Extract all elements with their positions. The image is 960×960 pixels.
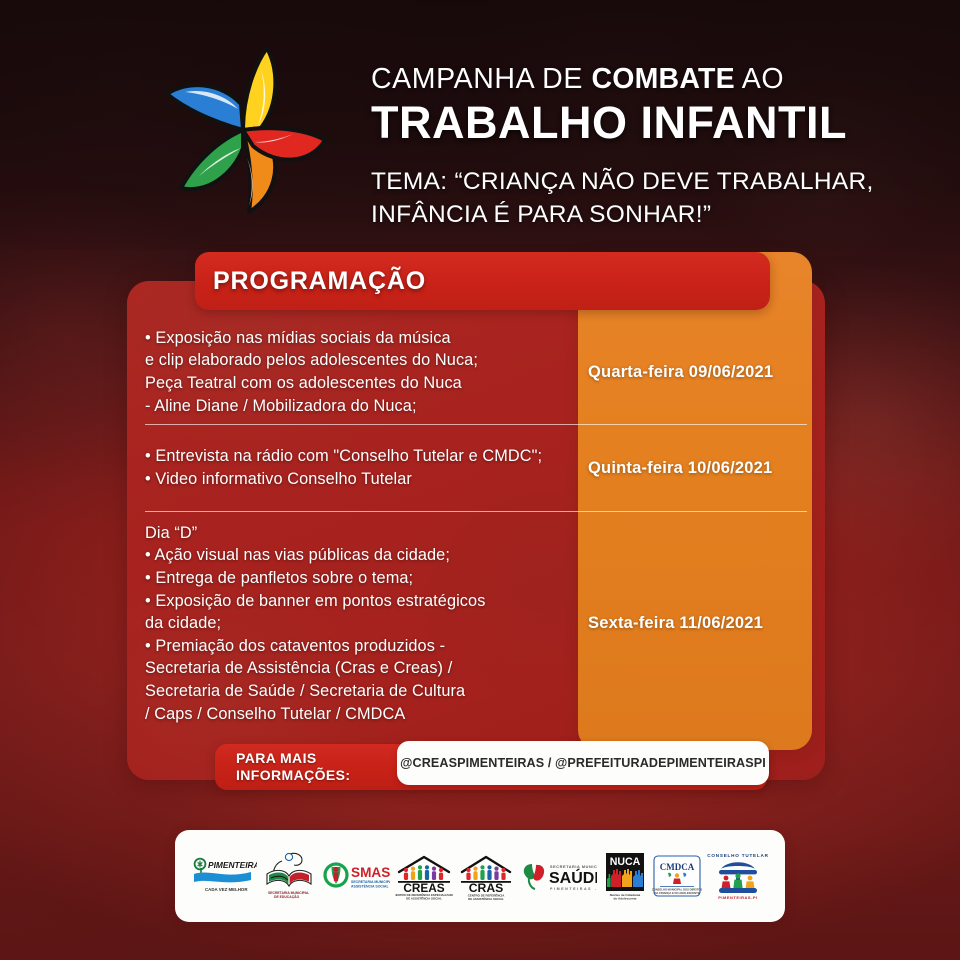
table-row: Dia “D” • Ação visual nas vias públicas …	[127, 512, 825, 735]
svg-text:do Adolescente: do Adolescente	[613, 897, 636, 901]
svg-text:PIMENTEIRAS: PIMENTEIRAS	[208, 860, 257, 870]
activity-line: Peça Teatral com os adolescentes do Nuca	[145, 372, 564, 395]
svg-text:CMDCA: CMDCA	[660, 862, 695, 872]
svg-text:SAÚDE: SAÚDE	[549, 868, 597, 887]
cmdca-logo: CMDCA CONSELHO MUNICIPAL DOS DIREITOS DA…	[652, 853, 702, 899]
conselho-tutelar-logo: CONSELHO TUTELAR PIMENTEIRAS-PI	[707, 850, 769, 902]
contact-label-line-1: PARA MAIS	[236, 750, 395, 768]
subtitle-line-2: INFÂNCIA É PARA SONHAR!”	[371, 199, 871, 232]
activity-line: Secretaria de Assistência (Cras e Creas)…	[145, 657, 564, 680]
row-activities: • Entrevista na rádio com "Conselho Tute…	[127, 445, 578, 490]
svg-text:DE ASSISTÊNCIA SOCIAL: DE ASSISTÊNCIA SOCIAL	[468, 896, 504, 900]
svg-text:CONSELHO TUTELAR: CONSELHO TUTELAR	[707, 853, 769, 858]
title-line-1-pre: CAMPANHA DE	[371, 63, 591, 95]
title-subtitle: TEMA: “CRIANÇA NÃO DEVE TRABALHAR, INFÂN…	[371, 166, 871, 231]
row-date: Quarta-feira 09/06/2021	[578, 363, 825, 382]
table-row: • Exposição nas mídias sociais da música…	[127, 320, 825, 424]
social-handles-text: @CREASPIMENTEIRAS / @PREFEITURADEPIMENTE…	[400, 756, 766, 770]
activity-line: • Premiação dos cataventos produzidos -	[145, 635, 564, 658]
row-date: Sexta-feira 11/06/2021	[578, 614, 825, 633]
poster-header: CAMPANHA DE COMBATE AO TRABALHO INFANTIL…	[0, 18, 960, 248]
contact-label-line-2: INFORMAÇÕES:	[236, 767, 395, 785]
social-handles-pill[interactable]: @CREASPIMENTEIRAS / @PREFEITURADEPIMENTE…	[397, 741, 769, 785]
activity-line: • Exposição nas mídias sociais da música	[145, 327, 564, 350]
title-line-1-post: AO	[735, 63, 784, 95]
svg-text:PIMENTEIRAS-PI: PIMENTEIRAS-PI	[718, 895, 757, 900]
svg-text:PIMENTEIRAS - PI: PIMENTEIRAS - PI	[550, 887, 597, 891]
programacao-title: PROGRAMAÇÃO	[195, 267, 426, 296]
activity-line: • Entrega de panfletos sobre o tema;	[145, 567, 564, 590]
campaign-poster: CAMPANHA DE COMBATE AO TRABALHO INFANTIL…	[0, 0, 960, 960]
row-date: Quinta-feira 10/06/2021	[578, 459, 825, 478]
pimenteiras-logo: PIMENTEIRAS CADA VEZ MELHOR	[191, 855, 257, 897]
activity-line: Dia “D”	[145, 522, 564, 545]
partner-logos-bar: PIMENTEIRAS CADA VEZ MELHOR SECRETARIA M…	[175, 830, 785, 922]
nuca-logo: NUCA Núcleo de Cidadania do Adolescente	[603, 851, 647, 901]
svg-text:SECRETARIA MUNICIPAL DE: SECRETARIA MUNICIPAL DE	[550, 865, 597, 869]
subtitle-line-1: TEMA: “CRIANÇA NÃO DEVE TRABALHAR,	[371, 166, 871, 199]
title-block: CAMPANHA DE COMBATE AO TRABALHO INFANTIL…	[371, 64, 871, 231]
activity-line: • Exposição de banner em pontos estratég…	[145, 590, 564, 613]
svg-text:SECRETARIA MUNICIPAL DE: SECRETARIA MUNICIPAL DE	[351, 880, 390, 884]
activity-line: / Caps / Conselho Tutelar / CMDCA	[145, 703, 564, 726]
secretaria-educacao-logo: SECRETARIA MUNICIPAL DE EDUCAÇÃO	[262, 850, 316, 902]
svg-text:ASSISTÊNCIA SOCIAL: ASSISTÊNCIA SOCIAL	[351, 884, 389, 889]
schedule-table: • Exposição nas mídias sociais da música…	[127, 320, 825, 735]
svg-text:CADA VEZ MELHOR: CADA VEZ MELHOR	[205, 887, 248, 892]
creas-logo: CREAS CENTRO DE REFERÊNCIA ESPECIALIZADO…	[395, 852, 453, 900]
title-line-1: CAMPANHA DE COMBATE AO	[371, 64, 871, 96]
smas-logo: SMAS SECRETARIA MUNICIPAL DE ASSISTÊNCIA…	[322, 856, 390, 896]
activity-line: • Entrevista na rádio com "Conselho Tute…	[145, 445, 564, 468]
svg-text:DE ASSISTÊNCIA SOCIAL: DE ASSISTÊNCIA SOCIAL	[406, 895, 442, 900]
cras-logo: CRAS CENTRO DE REFERÊNCIA DE ASSISTÊNCIA…	[458, 852, 514, 900]
activity-line: Secretaria de Saúde / Secretaria de Cult…	[145, 680, 564, 703]
activity-line: e clip elaborado pelos adolescentes do N…	[145, 349, 564, 372]
svg-text:CONSELHO MUNICIPAL DOS DIREITO: CONSELHO MUNICIPAL DOS DIREITOS	[652, 888, 702, 892]
contact-bar: PARA MAIS INFORMAÇÕES: @CREASPIMENTEIRAS…	[215, 744, 767, 790]
table-row: • Entrevista na rádio com "Conselho Tute…	[127, 425, 825, 511]
svg-text:NUCA: NUCA	[609, 856, 640, 868]
activity-line: - Aline Diane / Mobilizadora do Nuca;	[145, 395, 564, 418]
svg-text:DA CRIANÇA E DO ADOLESCENTE: DA CRIANÇA E DO ADOLESCENTE	[654, 891, 699, 895]
programacao-header-pill: PROGRAMAÇÃO	[195, 252, 770, 310]
title-line-1-strong: COMBATE	[591, 63, 734, 95]
svg-text:DE EDUCAÇÃO: DE EDUCAÇÃO	[274, 894, 300, 899]
row-activities: • Exposição nas mídias sociais da música…	[127, 327, 578, 418]
row-activities: Dia “D” • Ação visual nas vias públicas …	[127, 522, 578, 726]
activity-line: da cidade;	[145, 612, 564, 635]
contact-label: PARA MAIS INFORMAÇÕES:	[215, 750, 395, 785]
svg-text:SMAS: SMAS	[351, 865, 390, 880]
activity-line: • Video informativo Conselho Tutelar	[145, 468, 564, 491]
saude-logo: SECRETARIA MUNICIPAL DE SAÚDE PIMENTEIRA…	[519, 858, 597, 894]
title-line-2: TRABALHO INFANTIL	[371, 98, 871, 148]
activity-line: • Ação visual nas vias públicas da cidad…	[145, 544, 564, 567]
pinwheel-logo	[143, 30, 343, 230]
